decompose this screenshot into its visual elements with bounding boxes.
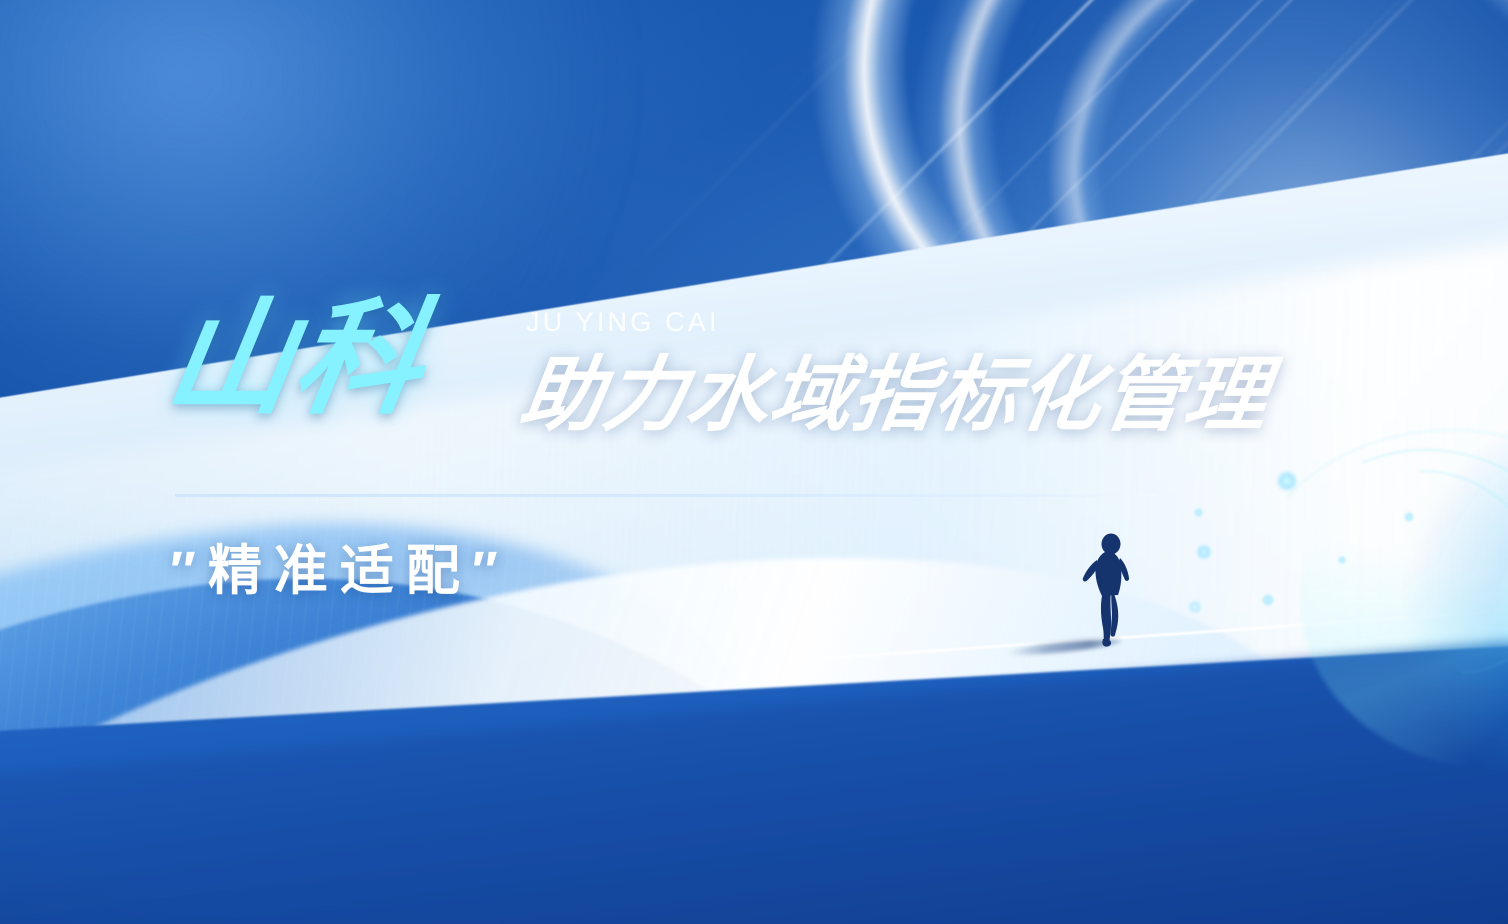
headline-text: 助力水域指标化管理: [515, 355, 1274, 437]
tagline-text: ″精准适配″: [170, 540, 510, 602]
promo-banner: 山科 JU YING CAI 助力水域指标化管理 ″精准适配″: [0, 0, 1508, 924]
brand-pinyin-text: JU YING CAI: [526, 307, 720, 338]
brand-logo-text: 山科: [158, 296, 434, 422]
divider-line: [175, 494, 1157, 497]
banner-content: 山科 JU YING CAI 助力水域指标化管理 ″精准适配″: [0, 0, 1508, 924]
